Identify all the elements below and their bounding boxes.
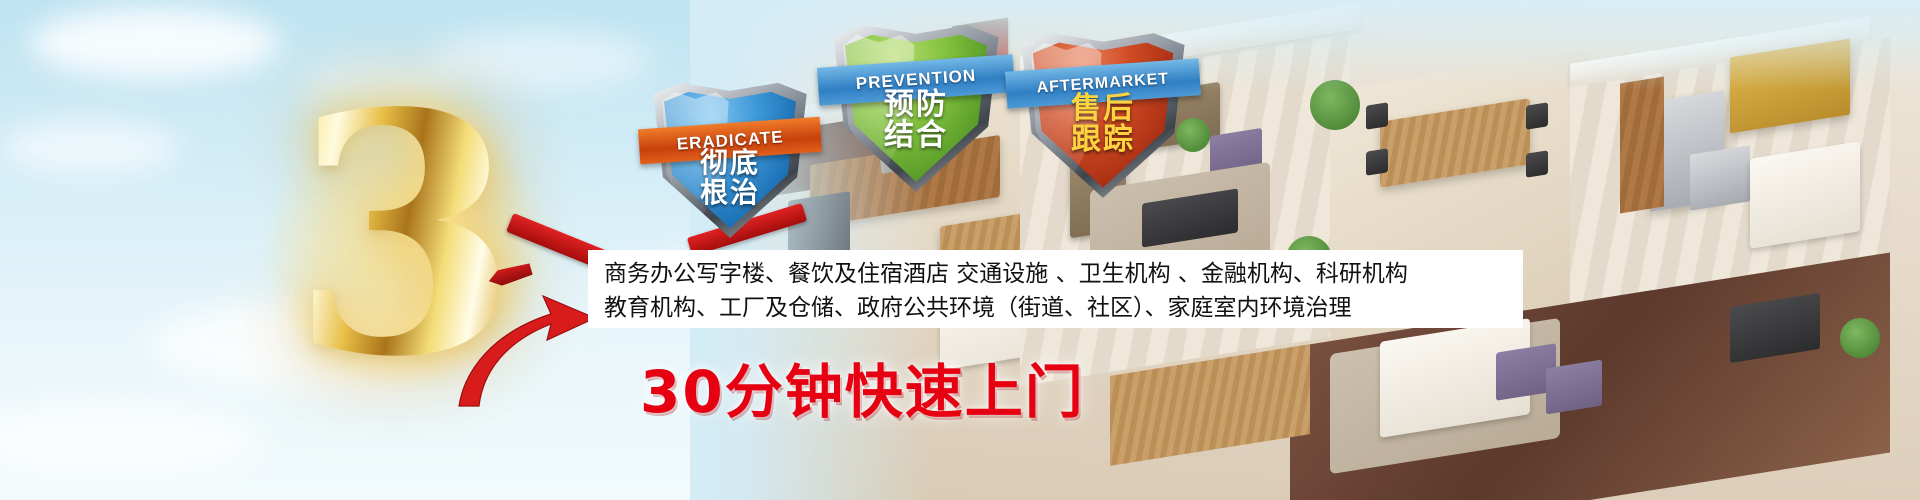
- shield-chinese-line1: 预防: [830, 89, 1002, 120]
- shield-eradicate: ERADICATE 彻底 根治: [650, 78, 810, 238]
- shield-chinese-text-aftermarket: 售后 跟踪: [1018, 93, 1188, 155]
- shield-chinese-text-eradicate: 彻底 根治: [650, 148, 810, 206]
- service-scope-line-2: 教育机构、工厂及仓储、政府公共环境（街道、社区）、家庭室内环境治理: [604, 291, 1507, 325]
- shield-aftermarket: AFTERMARKET 售后 跟踪: [1018, 28, 1188, 198]
- headline-30-minute-service: 30分钟快速上门: [640, 345, 1085, 429]
- cloud-decoration: [30, 8, 280, 78]
- cloud-decoration: [0, 120, 180, 175]
- promo-banner: 3 ERADICATE 彻底 根治 PREVENTION: [0, 0, 1920, 500]
- shield-chinese-line1: 售后: [1018, 93, 1188, 124]
- shield-chinese-line2: 根治: [650, 178, 810, 207]
- shield-chinese-line2: 跟踪: [1018, 124, 1188, 155]
- shield-chinese-line1: 彻底: [650, 148, 810, 177]
- shield-prevention: PREVENTION 预防 结合: [830, 20, 1002, 192]
- shield-chinese-text-prevention: 预防 结合: [830, 89, 1002, 151]
- shield-chinese-line2: 结合: [830, 120, 1002, 151]
- service-scope-line-1: 商务办公写字楼、餐饮及住宿酒店 交通设施 、卫生机构 、金融机构、科研机构: [604, 257, 1507, 291]
- red-arrow-ribbon: [455, 288, 605, 408]
- service-scope-panel: 商务办公写字楼、餐饮及住宿酒店 交通设施 、卫生机构 、金融机构、科研机构 教育…: [588, 250, 1523, 328]
- cloud-decoration: [0, 400, 260, 480]
